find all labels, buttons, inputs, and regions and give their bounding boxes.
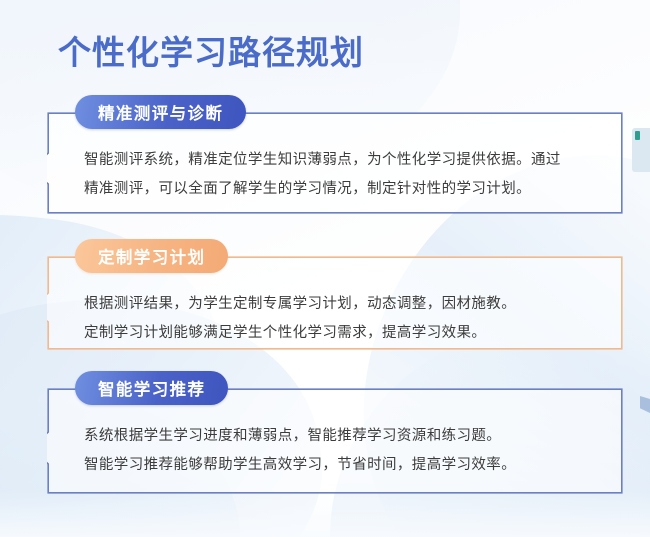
card-recommend: 智能学习推荐 系统根据学生学习进度和薄弱点，智能推荐学习资源和练习题。 智能学习… <box>47 388 623 494</box>
card-plan: 定制学习计划 根据测评结果，为学生定制专属学习计划，动态调整，因材施教。 定制学… <box>47 256 623 350</box>
page-title: 个性化学习路径规划 <box>58 26 364 74</box>
card-text-line: 精准测评，可以全面了解学生的学习情况，制定针对性的学习计划。 <box>84 175 597 204</box>
card-badge-plan[interactable]: 定制学习计划 <box>75 239 228 273</box>
background-bottom-strip <box>0 491 650 537</box>
card-text-line: 系统根据学生学习进度和薄弱点，智能推荐学习资源和练习题。 <box>84 422 597 451</box>
blue-arrow-decoration-icon <box>640 396 650 413</box>
card-text-line: 定制学习计划能够满足学生个性化学习需求，提高学习效果。 <box>84 319 597 348</box>
card-assessment: 精准测评与诊断 智能测评系统，精准定位学生知识薄弱点，为个性化学习提供依据。通过… <box>47 112 623 214</box>
card-badge-recommend[interactable]: 智能学习推荐 <box>75 371 228 405</box>
teal-tab-decoration-icon <box>632 128 650 172</box>
card-text-line: 根据测评结果，为学生定制专属学习计划，动态调整，因材施教。 <box>84 290 597 319</box>
card-badge-assessment[interactable]: 精准测评与诊断 <box>75 95 246 129</box>
card-text-line: 智能测评系统，精准定位学生知识薄弱点，为个性化学习提供依据。通过 <box>84 146 597 175</box>
card-text-line: 智能学习推荐能够帮助学生高效学习，节省时间，提高学习效率。 <box>84 451 597 480</box>
poster-canvas: 个性化学习路径规划 精准测评与诊断 智能测评系统，精准定位学生知识薄弱点，为个性… <box>0 0 650 537</box>
